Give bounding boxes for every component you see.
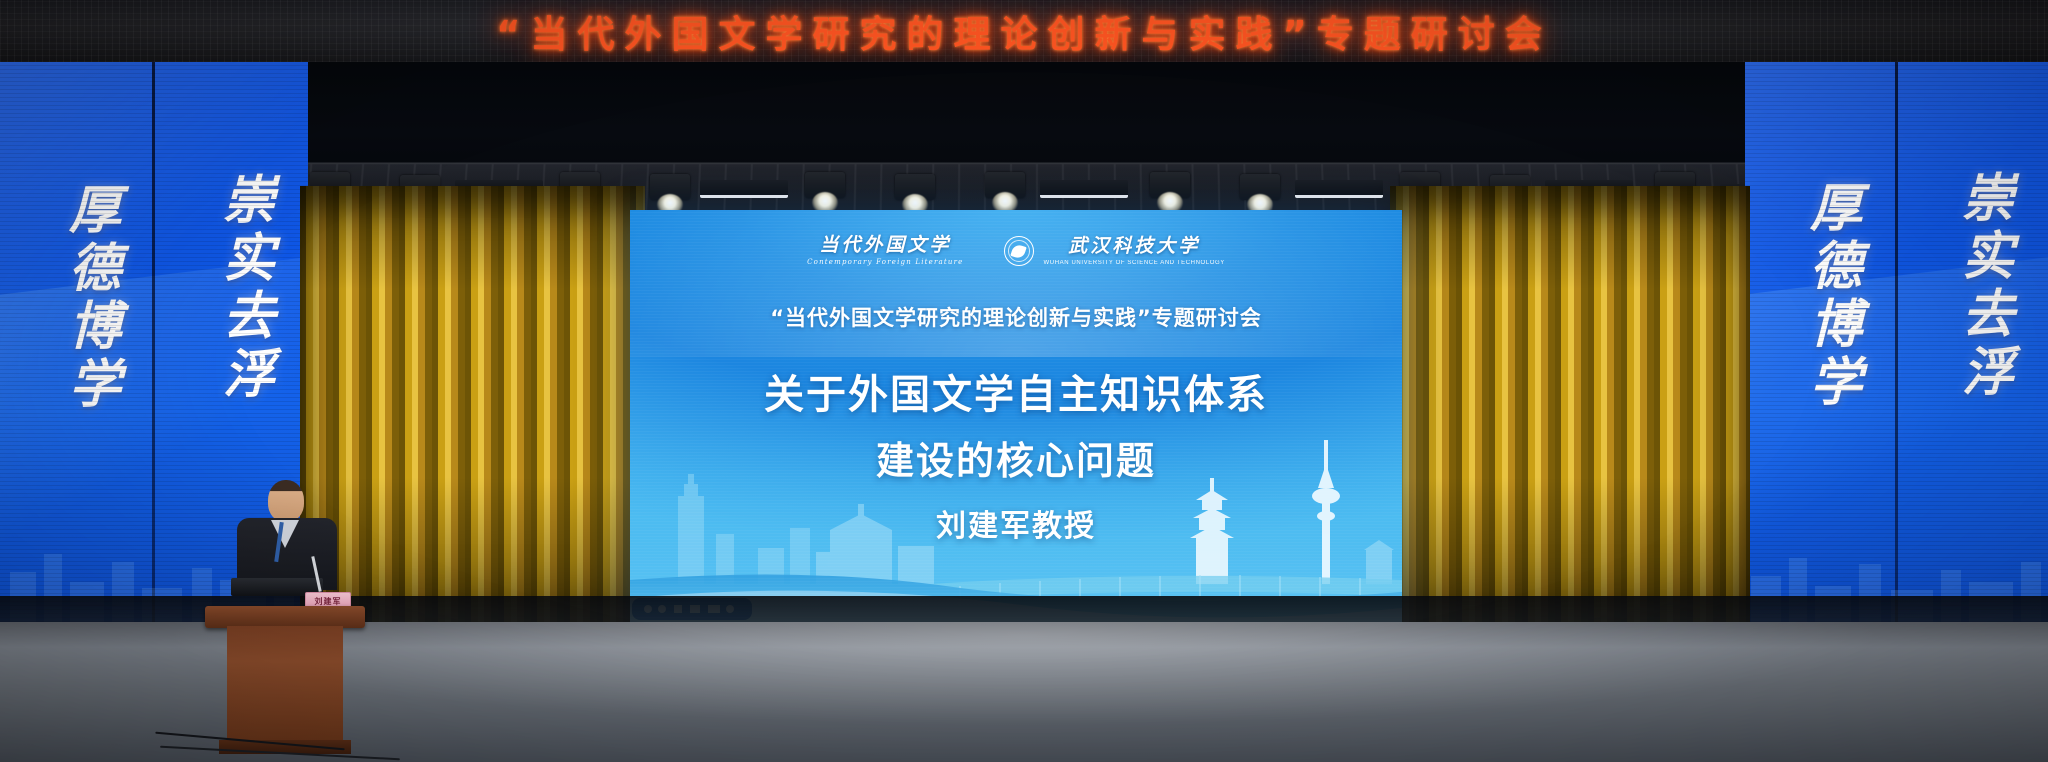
wall-calligraphy-left-column: 厚德博学	[1799, 180, 1862, 412]
stage-light-icon	[1150, 172, 1190, 198]
stage-curtain-right	[1390, 186, 1750, 656]
auditorium-stage-photo: “当代外国文学研究的理论创新与实践”专题研讨会	[0, 0, 2048, 762]
wall-calligraphy-right-column: 崇实去浮	[1951, 170, 2014, 402]
presentation-screen: 当代外国文学 Contemporary Foreign Literature 武…	[630, 210, 1402, 630]
podium-and-speaker: 刘建军	[205, 478, 365, 762]
logo-cn-text: 当代外国文学	[819, 236, 951, 255]
led-banner-text: “当代外国文学研究的理论创新与实践”专题研讨会	[0, 4, 2048, 58]
talk-title-line-1: 关于外国文学自主知识体系	[630, 362, 1402, 420]
wall-calligraphy-right-column: 崇实去浮	[212, 172, 275, 404]
podium-body	[227, 626, 343, 744]
stage-light-icon	[985, 172, 1025, 198]
podium-top	[205, 606, 365, 628]
logo-en-text: WUHAN UNIVERSITY OF SCIENCE AND TECHNOLO…	[1044, 260, 1225, 266]
stage-light-bar-icon	[1040, 180, 1128, 198]
stage-light-icon	[650, 174, 690, 200]
conference-subtitle: “当代外国文学研究的理论创新与实践”专题研讨会	[630, 302, 1402, 332]
wust-logo-icon	[1004, 236, 1034, 266]
screen-logo-row: 当代外国文学 Contemporary Foreign Literature 武…	[630, 236, 1402, 266]
stage-light-icon	[1240, 174, 1280, 200]
logo-en-text: Contemporary Foreign Literature	[807, 259, 963, 266]
logo-cn-text: 武汉科技大学	[1068, 237, 1200, 256]
logo-contemporary-foreign-literature: 当代外国文学 Contemporary Foreign Literature	[807, 236, 963, 266]
speaker-credit: 刘建军教授	[630, 501, 1402, 545]
speaker-head	[268, 480, 304, 522]
overhead-led-banner: “当代外国文学研究的理论创新与实践”专题研讨会	[0, 0, 2048, 62]
right-led-wall: 厚德博学 崇实去浮	[1745, 62, 2048, 622]
stage-light-icon	[895, 174, 935, 200]
talk-title-line-2: 建设的核心问题	[630, 430, 1402, 485]
stage-light-bar-icon	[1295, 180, 1383, 198]
logo-wuhan-university-of-science-and-technology: 武汉科技大学 WUHAN UNIVERSITY OF SCIENCE AND T…	[1004, 236, 1225, 266]
stage-light-bar-icon	[700, 180, 788, 198]
wall-calligraphy-left-column: 厚德博学	[58, 182, 121, 414]
talk-title-block: 关于外国文学自主知识体系 建设的核心问题 刘建军教授	[630, 362, 1402, 545]
stage-light-icon	[805, 172, 845, 198]
